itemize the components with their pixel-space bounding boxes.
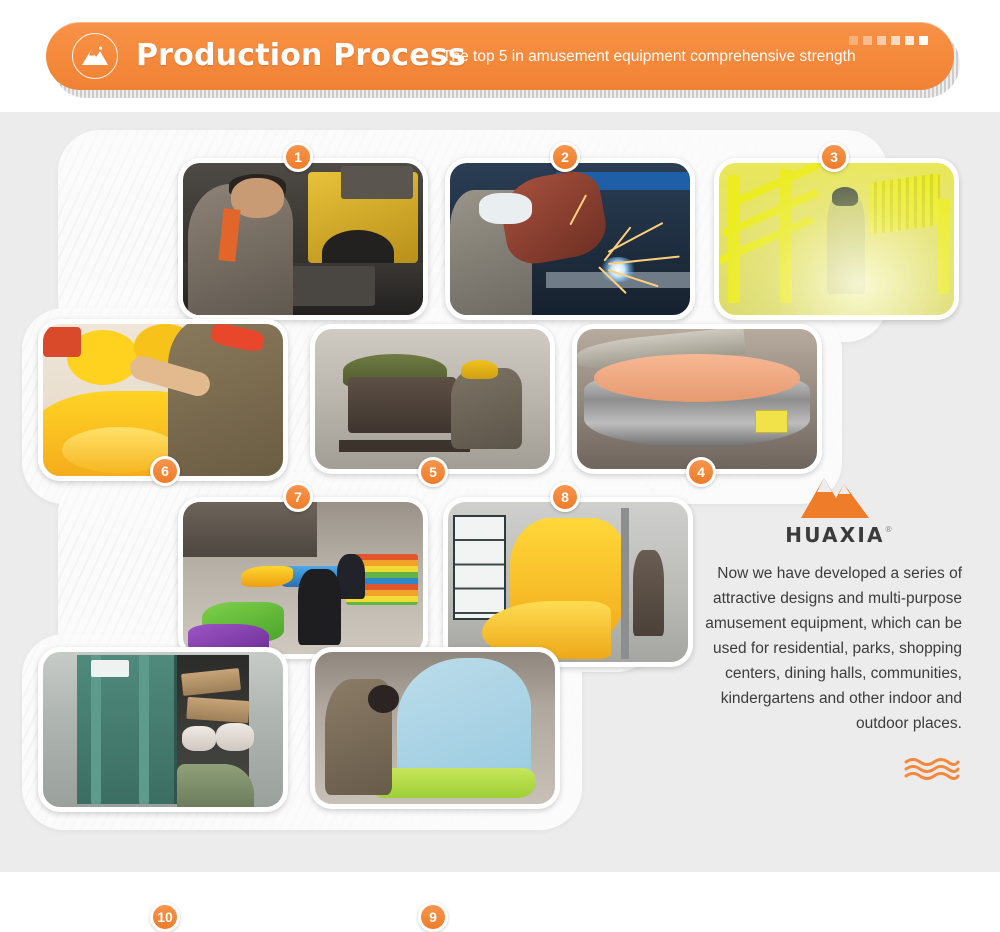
brand-name-text: HUAXIA xyxy=(785,523,884,547)
content-stage: 1 2 xyxy=(0,112,1000,872)
info-column: HUAXIA® Now we have developed a series o… xyxy=(690,472,980,782)
step-badge-8: 8 xyxy=(550,482,580,512)
header-banner: Production Process The top 5 in amusemen… xyxy=(0,0,1000,112)
process-photo-9[interactable] xyxy=(310,647,560,809)
mountain-logo-icon xyxy=(72,33,118,79)
process-photo-10[interactable] xyxy=(38,647,288,812)
description-text: Now we have developed a series of attrac… xyxy=(690,561,980,736)
process-photo-8[interactable] xyxy=(443,497,693,667)
huaxia-mountain-icon xyxy=(798,472,872,520)
step-badge-10: 10 xyxy=(150,902,180,932)
production-process-page: Production Process The top 5 in amusemen… xyxy=(0,0,1000,872)
process-photo-2[interactable] xyxy=(445,158,695,320)
step-badge-6: 6 xyxy=(150,456,180,486)
step-badge-7: 7 xyxy=(283,482,313,512)
banner-bar: Production Process The top 5 in amusemen… xyxy=(46,22,954,90)
brand-trademark: ® xyxy=(884,525,894,534)
step-badge-1: 1 xyxy=(283,142,313,172)
process-photo-7[interactable] xyxy=(178,497,428,659)
brand-name: HUAXIA® xyxy=(785,523,884,547)
step-badge-9: 9 xyxy=(418,902,448,932)
wave-decoration-icon xyxy=(690,756,980,782)
step-badge-2: 2 xyxy=(550,142,580,172)
process-photo-3[interactable] xyxy=(714,158,959,320)
banner-subtitle: The top 5 in amusement equipment compreh… xyxy=(442,48,856,66)
process-photo-5[interactable] xyxy=(310,324,555,474)
process-photo-4[interactable] xyxy=(572,324,822,474)
step-badge-3: 3 xyxy=(819,142,849,172)
banner-dots-decoration xyxy=(849,36,928,45)
step-badge-5: 5 xyxy=(418,457,448,487)
banner-title: Production Process xyxy=(136,38,466,73)
process-photo-1[interactable] xyxy=(178,158,428,320)
brand-block: HUAXIA® xyxy=(690,472,980,547)
step-badge-4: 4 xyxy=(686,457,716,487)
